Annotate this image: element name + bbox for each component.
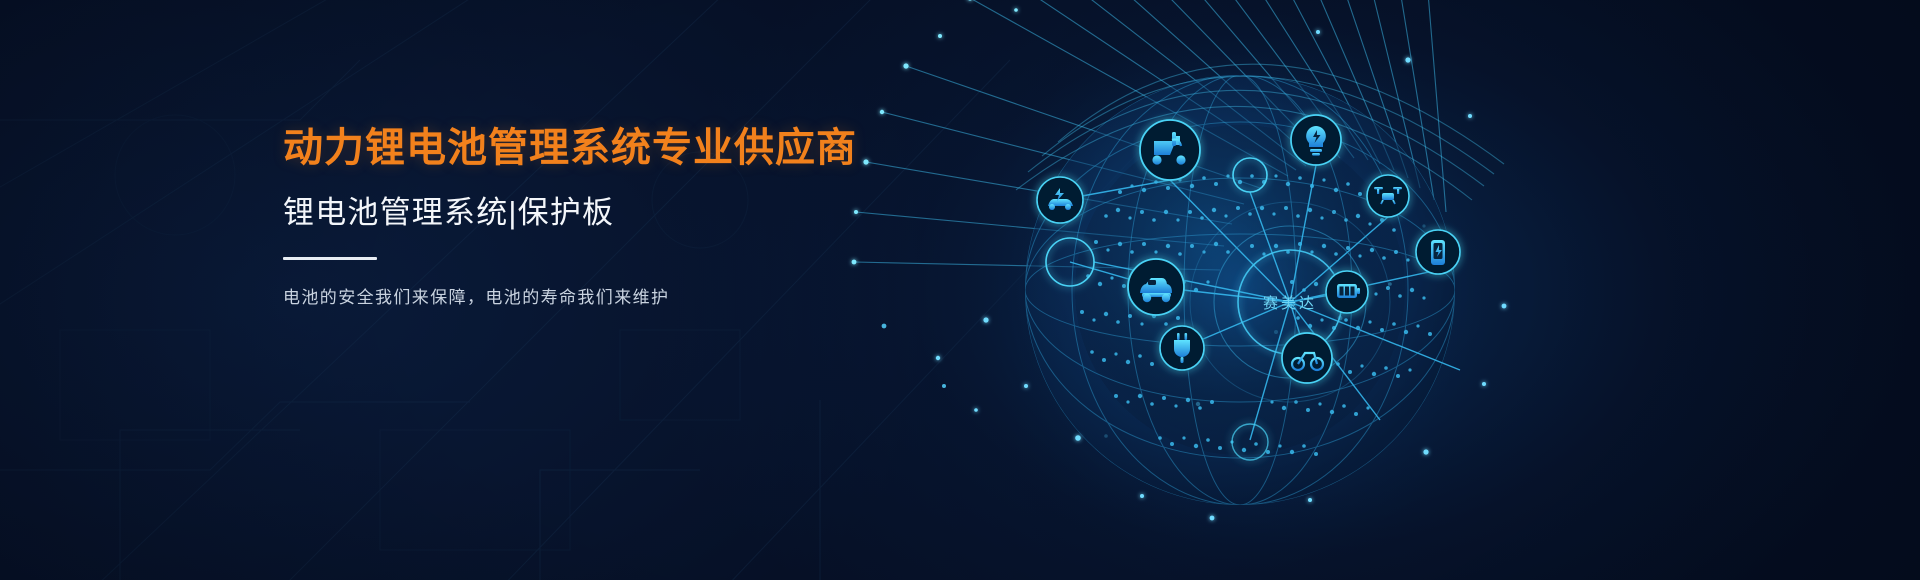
network-globe-graphic: 赛美达 (820, 0, 1520, 580)
hub-label: 赛美达 (1263, 295, 1317, 312)
node-sedan[interactable] (1128, 259, 1184, 315)
node-scooter[interactable] (1140, 120, 1200, 180)
hero-copy: 动力锂电池管理系统专业供应商 锂电池管理系统|保护板 电池的安全我们来保障，电池… (283, 126, 923, 310)
node-electric-car[interactable] (1037, 177, 1083, 223)
hero-subtitle: 锂电池管理系统|保护板 (283, 194, 923, 231)
node-drone[interactable] (1367, 175, 1409, 217)
node-ebike[interactable] (1282, 333, 1332, 383)
power-bank-icon (1431, 240, 1445, 265)
node-power-bank[interactable] (1416, 230, 1460, 274)
node-battery-pack[interactable] (1326, 271, 1368, 313)
node-charger[interactable] (1160, 326, 1204, 370)
title-divider (283, 257, 377, 260)
page-title: 动力锂电池管理系统专业供应商 (283, 126, 923, 171)
node-lightbulb[interactable] (1291, 115, 1341, 165)
hero-description: 电池的安全我们来保障，电池的寿命我们来维护 (283, 285, 923, 311)
battery-pack-icon (1337, 284, 1360, 298)
hero-banner: 动力锂电池管理系统专业供应商 锂电池管理系统|保护板 电池的安全我们来保障，电池… (0, 0, 1920, 580)
